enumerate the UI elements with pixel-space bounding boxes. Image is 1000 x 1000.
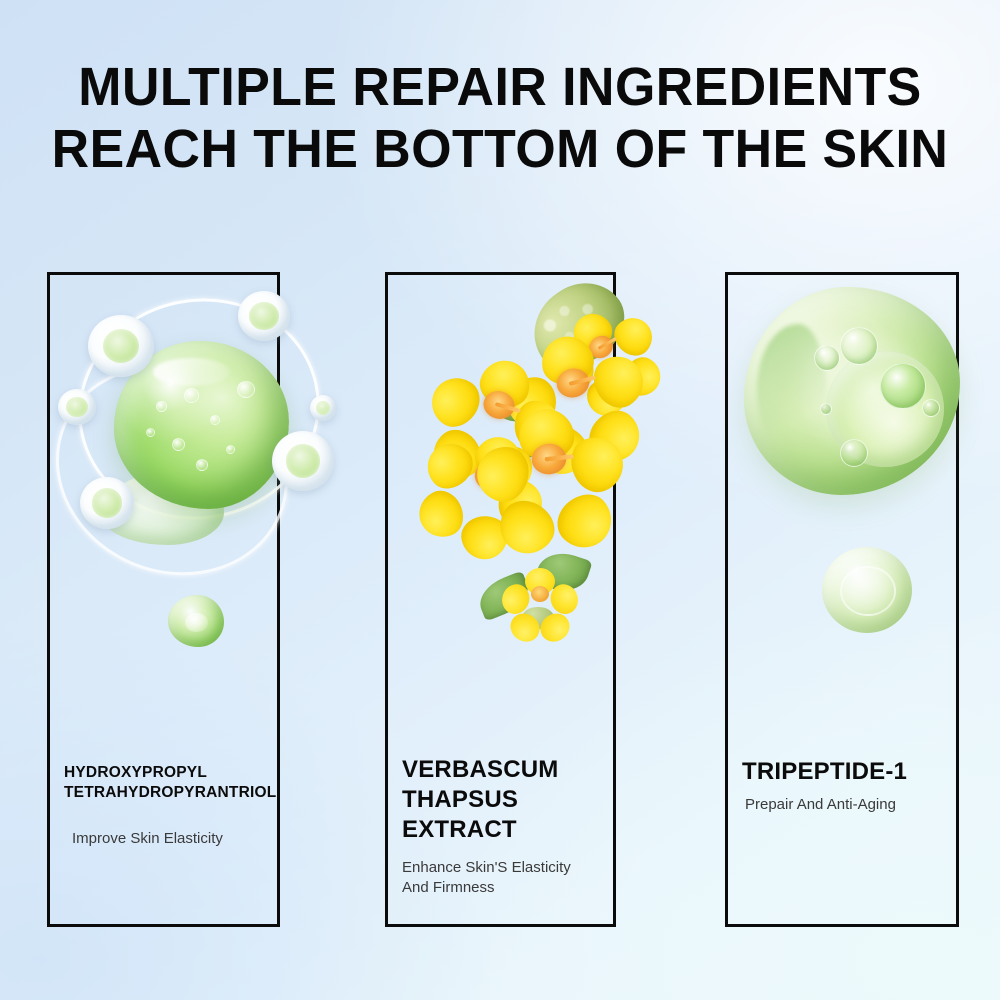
bubble-icon: [184, 388, 199, 403]
flower-icon: [426, 415, 552, 538]
flower-icon: [510, 322, 637, 444]
small-gel-droplet-shape: [168, 595, 224, 647]
ingredient-description-line-1: Enhance Skin'S Elasticity: [402, 859, 571, 876]
flower-center-icon: [470, 459, 508, 496]
bubble-icon: [814, 345, 840, 371]
ingredient-description: Prepair And Anti-Aging: [742, 795, 942, 815]
leaf-icon: [521, 424, 563, 458]
ingredient-panel-verbascum-thapsus-extract: VERBASCUM THAPSUS EXTRACT Enhance Skin'S…: [385, 272, 616, 927]
page-title-line-1: MULTIPLE REPAIR INGREDIENTS: [20, 56, 980, 118]
flower-center-icon: [480, 387, 518, 422]
panel-3-text-block: TRIPEPTIDE-1 Prepair And Anti-Aging: [728, 757, 956, 815]
ingredient-name-line-2: TETRAHYDROPYRANTRIOL: [64, 784, 276, 801]
capsule-bead-icon: [238, 291, 290, 341]
ingredient-panel-tripeptide-1: TRIPEPTIDE-1 Prepair And Anti-Aging: [725, 272, 959, 927]
bubble-icon: [196, 459, 208, 471]
flower-icon: [548, 295, 654, 399]
leaf-icon: [474, 570, 535, 621]
leaf-icon: [486, 382, 539, 429]
bubble-icon: [880, 363, 926, 409]
flower-center-icon: [554, 365, 593, 401]
ingredient-name: VERBASCUM THAPSUS EXTRACT: [402, 755, 599, 845]
bubble-icon: [156, 401, 167, 412]
bubble-icon: [146, 428, 155, 437]
bubble-icon: [922, 399, 940, 417]
gel-blob-inner-shape: [826, 351, 944, 467]
panel-1-text-block: HYDROXYPROPYL TETRAHYDROPYRANTRIOL Impro…: [50, 763, 277, 849]
bubble-icon: [226, 445, 235, 454]
flower-icon: [488, 400, 611, 517]
flower-center-icon: [585, 332, 617, 363]
flower-center-icon: [530, 442, 568, 476]
flower-sprig-artwork: [476, 545, 596, 637]
ingredient-name-line-1: VERBASCUM: [402, 756, 558, 783]
gel-puddle-shape: [102, 471, 224, 545]
flower-icon: [512, 569, 568, 619]
green-gel-sphere-artwork: [10, 285, 340, 705]
ingredient-name: HYDROXYPROPYL TETRAHYDROPYRANTRIOL: [64, 763, 263, 803]
ingredient-name-line-2: THAPSUS: [402, 786, 518, 813]
green-gel-blob-artwork: [734, 279, 984, 699]
bubble-icon: [840, 439, 868, 467]
capsule-bead-icon: [310, 395, 336, 421]
leaf-icon: [533, 546, 592, 598]
small-gel-droplet-shape: [822, 547, 912, 633]
yellow-mullein-flowers-artwork: [398, 279, 648, 659]
bubble-icon: [172, 438, 185, 451]
ingredient-name-line-1: HYDROXYPROPYL: [64, 764, 207, 781]
capsule-bead-icon: [58, 389, 96, 425]
page-title: MULTIPLE REPAIR INGREDIENTS REACH THE BO…: [20, 56, 980, 180]
ingredient-poster: MULTIPLE REPAIR INGREDIENTS REACH THE BO…: [0, 0, 1000, 1000]
bubble-icon: [237, 381, 255, 398]
page-title-line-2: REACH THE BOTTOM OF THE SKIN: [20, 118, 980, 180]
flower-center-icon: [531, 586, 549, 602]
ingredient-panel-hydroxypropyl-tetrahydropyrantriol: HYDROXYPROPYL TETRAHYDROPYRANTRIOL Impro…: [47, 272, 280, 927]
bubble-icon: [210, 415, 220, 425]
capsule-bead-icon: [272, 431, 334, 491]
bubble-icon: [820, 403, 832, 415]
panel-2-text-block: VERBASCUM THAPSUS EXTRACT Enhance Skin'S…: [388, 755, 613, 898]
ingredient-description: Enhance Skin'S Elasticity And Firmness: [402, 858, 599, 898]
green-gel-sphere-shape: [114, 341, 289, 509]
ingredient-description-line-2: And Firmness: [402, 879, 495, 896]
ingredient-name-line-3: EXTRACT: [402, 816, 517, 843]
flower-bud-spike-shape: [517, 267, 639, 384]
bubble-icon: [840, 327, 878, 365]
capsule-bead-icon: [88, 315, 154, 377]
orbit-ring-outer-icon: [58, 276, 340, 542]
ingredient-name: TRIPEPTIDE-1: [742, 757, 942, 787]
flower-icon: [437, 345, 561, 465]
capsule-bead-icon: [80, 477, 134, 529]
bud-icon: [522, 607, 554, 629]
orbit-ring-inner-icon: [24, 330, 320, 609]
ingredient-description: Improve Skin Elasticity: [64, 829, 263, 849]
green-gel-blob-shape: [744, 287, 960, 495]
